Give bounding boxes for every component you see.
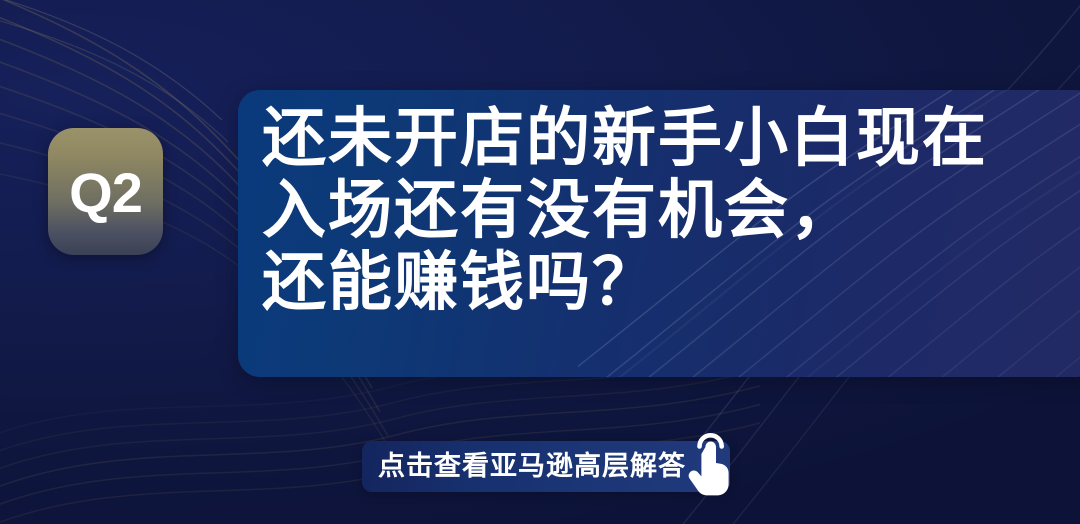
question-line-2: 入场还有没有机会， — [262, 174, 1080, 246]
question-number-badge: Q2 — [48, 128, 163, 255]
tap-hand-icon[interactable] — [686, 432, 732, 498]
poster-canvas: Q2 还未开店的新手小白现 — [0, 0, 1080, 524]
question-line-3: 还能赚钱吗？ — [262, 246, 1080, 318]
view-answer-button[interactable]: 点击查看亚马逊高层解答 — [362, 441, 730, 492]
question-card: 还未开店的新手小白现在 入场还有没有机会， 还能赚钱吗？ — [238, 90, 1080, 377]
question-number-label: Q2 — [69, 165, 142, 221]
question-text: 还未开店的新手小白现在 入场还有没有机会， 还能赚钱吗？ — [262, 102, 1080, 318]
question-line-1: 还未开店的新手小白现在 — [262, 102, 1080, 174]
view-answer-label: 点击查看亚马逊高层解答 — [378, 453, 686, 480]
